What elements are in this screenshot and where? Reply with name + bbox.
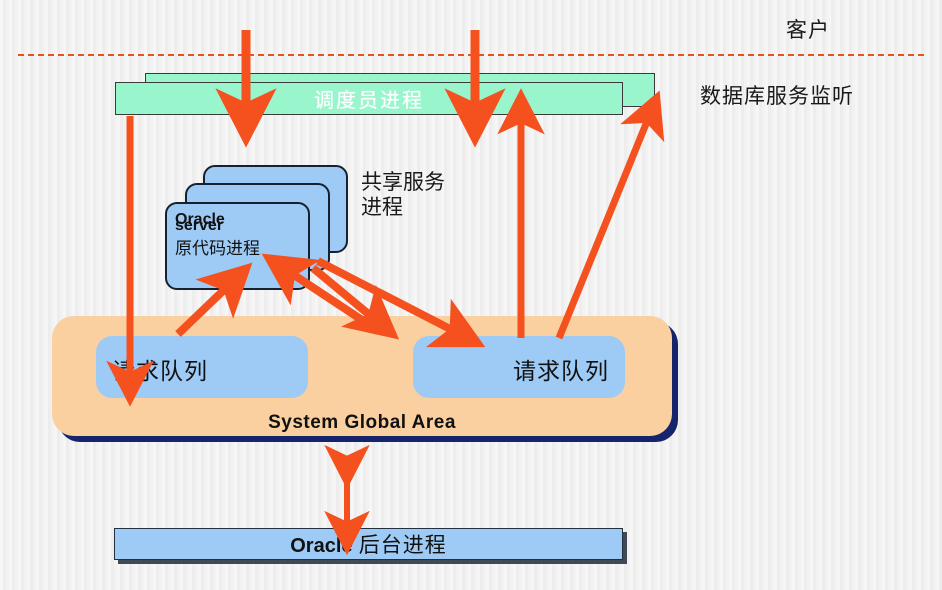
- arrow-server-process-to-sga: [313, 268, 372, 317]
- request-queue-right-label: 请求队列: [513, 352, 609, 386]
- system-global-area-label: System Global Area: [52, 412, 672, 434]
- client-boundary-divider: [18, 54, 924, 56]
- request-queue-left-label: 请求队列: [112, 352, 208, 386]
- arrow-request-queue-right-to-dispatcher-diagonal: [559, 119, 648, 338]
- dispatcher-process-label: 调度员进程: [314, 84, 424, 113]
- shared-server-process-text: Oracle server 原代码进程: [175, 210, 305, 270]
- oracle-background-process-cn: 后台进程: [353, 533, 447, 557]
- diagram-canvas: 客户 数据库服务监听 调度员进程 Oracle server 原代码进程 共享服…: [0, 0, 942, 590]
- oracle-background-process-en: Oracle: [290, 535, 352, 557]
- request-queue-left-box[interactable]: 请求队列: [96, 336, 308, 398]
- request-queue-right-box[interactable]: 请求队列: [413, 336, 625, 398]
- shared-server-process-box[interactable]: Oracle server 原代码进程: [165, 202, 310, 290]
- database-service-listener-label: 数据库服务监听: [700, 80, 854, 110]
- shared-service-process-label: 共享服务 进程: [361, 170, 445, 220]
- shared-server-process-chinese-label: 原代码进程: [175, 234, 260, 259]
- shared-server-process-en-line2: server: [175, 218, 225, 233]
- dispatcher-process-box[interactable]: 调度员进程: [115, 82, 623, 115]
- client-label: 客户: [786, 14, 830, 44]
- oracle-background-process-box[interactable]: Oracle 后台进程: [114, 528, 623, 560]
- oracle-background-process-label: Oracle 后台进程: [290, 529, 447, 559]
- shared-server-process-english-label: Oracle server: [175, 212, 225, 233]
